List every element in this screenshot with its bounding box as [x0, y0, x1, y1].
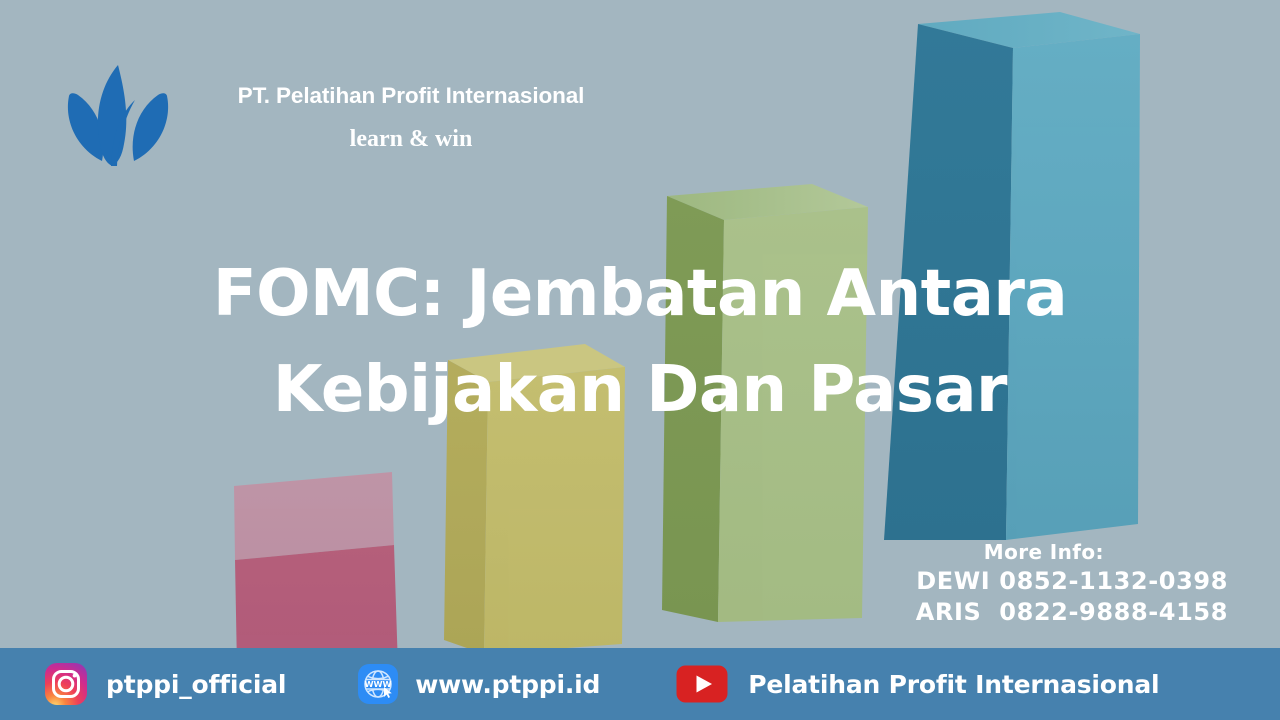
social-label-youtube: Pelatihan Profit Internasional: [748, 670, 1159, 699]
more-info-label: More Info:: [916, 538, 1228, 566]
bar-3: [662, 184, 868, 622]
social-label-instagram: ptppi_official: [106, 670, 286, 699]
social-footer-bar: ptppi_official WWW www.ptppi.id: [0, 648, 1280, 720]
lotus-flower-logo-icon: [62, 62, 174, 167]
social-item-instagram[interactable]: ptppi_official: [44, 648, 286, 720]
bar-2: [444, 344, 625, 654]
svg-text:WWW: WWW: [365, 679, 392, 689]
globe-www-icon[interactable]: WWW: [357, 663, 399, 705]
social-label-website: www.ptppi.id: [415, 670, 600, 699]
contact-block: More Info: DEWI 0852-1132-0398 ARIS 0822…: [916, 538, 1228, 628]
social-item-youtube[interactable]: Pelatihan Profit Internasional: [676, 648, 1159, 720]
company-name: PT. Pelatihan Profit Internasional: [196, 82, 626, 110]
social-item-website[interactable]: WWW www.ptppi.id: [357, 648, 600, 720]
contact-phone-aris[interactable]: ARIS 0822-9888-4158: [916, 597, 1228, 628]
bar-1: [234, 472, 398, 668]
youtube-icon[interactable]: [676, 665, 728, 703]
contact-phone-dewi[interactable]: DEWI 0852-1132-0398: [916, 566, 1228, 597]
poster-header: PT. Pelatihan Profit Internasional learn…: [0, 0, 1280, 175]
company-identity: PT. Pelatihan Profit Internasional learn…: [196, 82, 626, 153]
instagram-icon[interactable]: [44, 662, 88, 706]
poster-canvas: PT. Pelatihan Profit Internasional learn…: [0, 0, 1280, 720]
company-tagline: learn & win: [196, 126, 626, 152]
